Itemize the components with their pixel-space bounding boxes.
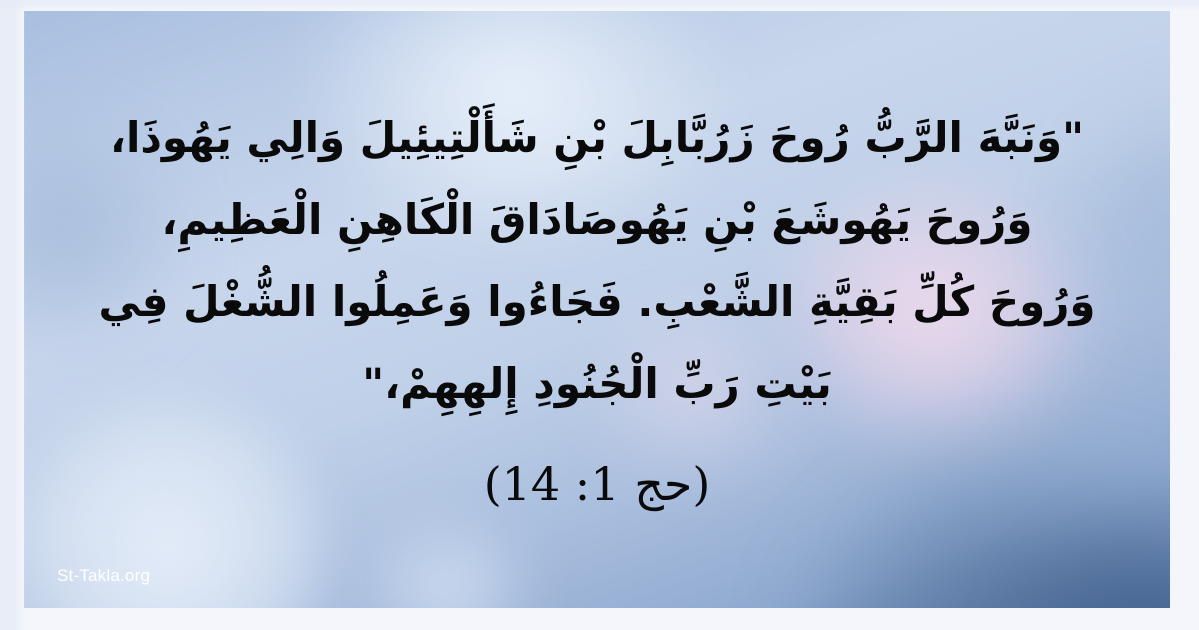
verse-line-2: وَرُوحَ يَهُوشَعَ بْنِ يَهُوصَادَاقَ الْ… bbox=[58, 179, 1136, 261]
verse-text-block: "وَنَبَّهَ الرَّبُّ رُوحَ زَرُبَّابِلَ ب… bbox=[24, 97, 1170, 425]
verse-line-3: وَرُوحَ كُلِّ بَقِيَّةِ الشَّعْبِ. فَجَا… bbox=[58, 261, 1136, 343]
verse-reference: (حج 1: 14) bbox=[24, 454, 1170, 514]
verse-line-1: "وَنَبَّهَ الرَّبُّ رُوحَ زَرُبَّابِلَ ب… bbox=[58, 97, 1136, 179]
background-photo: "وَنَبَّهَ الرَّبُّ رُوحَ زَرُبَّابِلَ ب… bbox=[24, 11, 1170, 608]
site-watermark: St-Takla.org bbox=[57, 566, 150, 586]
verse-image-canvas: "وَنَبَّهَ الرَّبُّ رُوحَ زَرُبَّابِلَ ب… bbox=[0, 0, 1199, 630]
verse-line-4: بَيْتِ رَبِّ الْجُنُودِ إِلهِهِمْ،" bbox=[58, 343, 1136, 425]
